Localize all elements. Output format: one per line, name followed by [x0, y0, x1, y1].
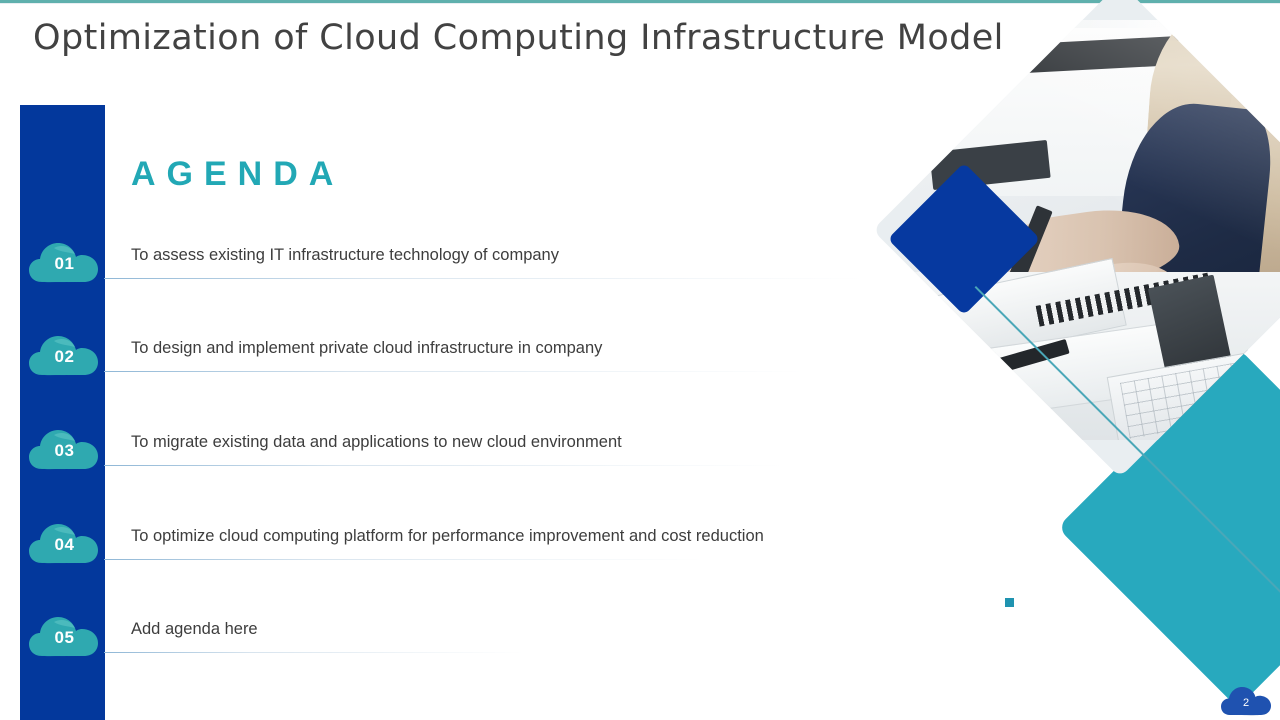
agenda-item-05[interactable]: 05 Add agenda here — [0, 608, 900, 668]
page-number: 2 — [1220, 685, 1272, 717]
agenda-divider — [104, 278, 864, 279]
agenda-text: To optimize cloud computing platform for… — [131, 527, 764, 546]
agenda-text: To assess existing IT infrastructure tec… — [131, 246, 559, 265]
agenda-number: 05 — [28, 614, 101, 658]
agenda-divider — [104, 371, 804, 372]
slide-canvas: Optimization of Cloud Computing Infrastr… — [0, 0, 1280, 720]
agenda-number: 04 — [28, 521, 101, 565]
agenda-text: Add agenda here — [131, 620, 258, 639]
accent-line-tip-square — [1005, 598, 1014, 607]
agenda-item-03[interactable]: 03 To migrate existing data and applicat… — [0, 421, 900, 481]
agenda-list: 01 To assess existing IT infrastructure … — [0, 0, 900, 720]
agenda-divider — [104, 559, 704, 560]
agenda-number: 01 — [28, 240, 101, 284]
agenda-item-02[interactable]: 02 To design and implement private cloud… — [0, 327, 900, 387]
agenda-number: 03 — [28, 427, 101, 471]
agenda-text: To design and implement private cloud in… — [131, 339, 602, 358]
agenda-number: 02 — [28, 333, 101, 377]
decorative-graphics — [780, 60, 1280, 680]
agenda-text: To migrate existing data and application… — [131, 433, 622, 452]
agenda-item-04[interactable]: 04 To optimize cloud computing platform … — [0, 515, 900, 575]
agenda-divider — [104, 465, 784, 466]
agenda-item-01[interactable]: 01 To assess existing IT infrastructure … — [0, 234, 900, 294]
agenda-divider — [104, 652, 524, 653]
